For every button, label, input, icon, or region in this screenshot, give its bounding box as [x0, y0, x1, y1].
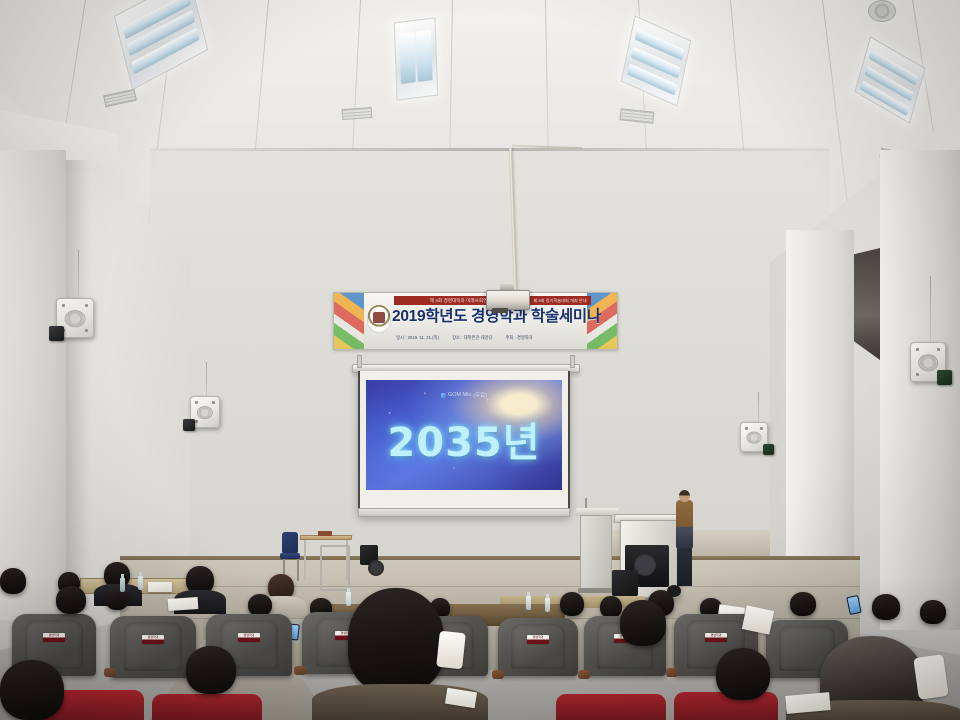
- wall-speaker-upper-left: [56, 298, 94, 338]
- seat-cushion[interactable]: [556, 694, 666, 720]
- attendee-head: [560, 592, 584, 616]
- face-mask: [436, 631, 466, 670]
- ceiling-light: [621, 15, 692, 106]
- cart-wheel: [368, 560, 384, 576]
- left-pillar-shadow: [66, 160, 90, 610]
- wall-speaker-upper-right: [910, 342, 946, 382]
- banner-date: 일시 : 2019. 11. 21.(목): [396, 333, 439, 343]
- slide-headline: 2035년: [366, 410, 562, 468]
- auditorium-seat[interactable]: 경영학과: [498, 618, 578, 676]
- banner-top-strip-right: 제 4회 정기학술대회 개최 안내: [529, 296, 591, 305]
- ceiling-light: [854, 36, 925, 123]
- attendee-head: [106, 590, 128, 610]
- speaker-wire: [758, 392, 759, 422]
- seat-armrest: [492, 670, 504, 679]
- gom-mix-watermark: GOM Mix (무료): [441, 391, 487, 399]
- water-bottle: [346, 592, 351, 606]
- ceiling-wall-joint: [150, 148, 830, 151]
- attendee-head: [872, 594, 900, 620]
- auditorium-seat[interactable]: 경영학과: [110, 616, 196, 678]
- wall-speaker-lower-left: [190, 396, 220, 428]
- presenter-body: [676, 500, 693, 548]
- table-object: [318, 531, 332, 536]
- attendee-head: [186, 646, 236, 694]
- water-bottle: [545, 598, 550, 612]
- attendee-head: [248, 594, 272, 616]
- left-pillar: [0, 150, 66, 620]
- seat-label: 경영학과: [705, 633, 727, 642]
- banner-host: 주최 : 경영학과: [505, 333, 532, 343]
- seminar-banner: 제 4회 경영대학과 미래사회연구소 공동 학술세미나 제 4회 정기학술대회 …: [333, 292, 618, 350]
- handout-paper: [168, 597, 199, 611]
- air-vent: [619, 108, 654, 123]
- attendee-head: [0, 568, 26, 594]
- university-emblem-icon: [367, 305, 391, 333]
- banner-title: 2019학년도 경영학과 학술세미나: [392, 305, 567, 329]
- speaker-wire: [78, 250, 79, 298]
- seat-cushion[interactable]: [152, 694, 262, 720]
- seat-label: 경영학과: [527, 635, 549, 644]
- ceiling-light: [114, 0, 208, 90]
- gom-mix-suffix: (무료): [473, 391, 487, 399]
- foreground-attendee-head: [348, 588, 444, 692]
- table-leg: [304, 540, 306, 580]
- attendee-head: [920, 600, 946, 624]
- seat-label: 경영학과: [142, 635, 164, 644]
- attendee-head: [716, 648, 770, 700]
- seat-armrest: [666, 668, 678, 677]
- wall-speaker-lower-right: [740, 422, 768, 452]
- air-vent: [103, 89, 137, 107]
- speaker-wire: [206, 362, 207, 396]
- seat-armrest: [578, 670, 590, 679]
- seat-label: 경영학과: [43, 633, 65, 642]
- seat-armrest: [104, 668, 116, 677]
- handout-paper: [148, 582, 172, 592]
- air-vent: [342, 107, 373, 120]
- attendee-head: [600, 596, 622, 618]
- seat-label: 경영학과: [238, 633, 260, 642]
- banner-decor-left: [334, 293, 364, 349]
- speaker-wire: [930, 276, 931, 342]
- ceiling-light: [394, 17, 438, 100]
- banner-place: 장소 : 대학본관 대강당: [452, 333, 492, 343]
- projection-screen: GOM Mix (무료) 2035년: [366, 380, 562, 490]
- banner-subtitle: 일시 : 2019. 11. 21.(목) 장소 : 대학본관 대강당 주최 :…: [396, 333, 586, 343]
- attendee-head: [0, 660, 64, 720]
- gom-mix-label: GOM Mix: [448, 392, 471, 398]
- gom-mix-logo-icon: [441, 393, 446, 398]
- auditorium-photo: 제 4회 경영대학과 미래사회연구소 공동 학술세미나 제 4회 정기학술대회 …: [0, 0, 960, 720]
- water-bottle: [138, 576, 143, 590]
- attendee-head: [56, 586, 86, 614]
- attendee-head: [790, 592, 816, 616]
- projector: [486, 290, 530, 310]
- ceiling-diffuser: [868, 0, 896, 22]
- right-pillar: [880, 150, 960, 630]
- blue-chair-back: [282, 532, 298, 554]
- presenter-head: [679, 490, 690, 502]
- attendee-head: [620, 600, 666, 646]
- seat-armrest: [294, 666, 306, 675]
- water-bottle: [526, 596, 531, 610]
- handout-paper: [785, 692, 830, 714]
- face-mask: [913, 654, 949, 700]
- water-bottle: [120, 578, 125, 592]
- screen-bottom-bar: [358, 508, 570, 517]
